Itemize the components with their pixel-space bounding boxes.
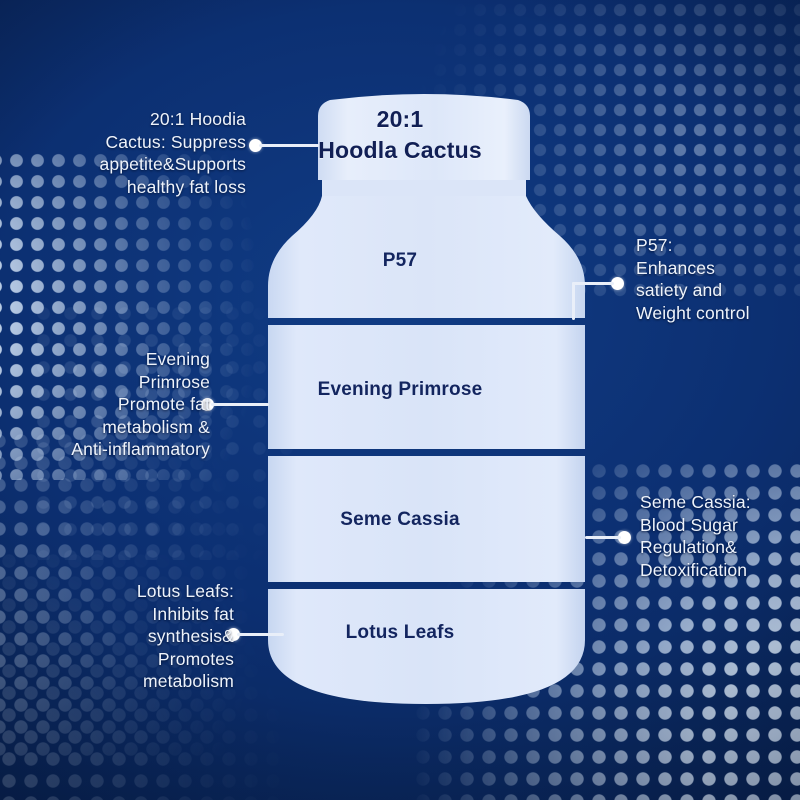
bottle-cap-shape <box>318 94 530 180</box>
callout-lotus-leafs: Lotus Leafs: Inhibits fat synthesis& Pro… <box>39 580 234 693</box>
bottle-band-seme-cassia <box>268 456 585 582</box>
bottle-neck-shape <box>322 180 526 196</box>
connector-elbow-p57 <box>572 282 575 320</box>
callout-hoodia-cactus: 20:1 Hoodia Cactus: Suppress appetite&Su… <box>36 108 246 198</box>
callout-evening-primrose: Evening Primrose Promote fat metabolism … <box>10 348 210 461</box>
connector-line-lotus-leafs <box>237 633 284 636</box>
connector-line-p57 <box>572 282 614 285</box>
infographic-canvas: 20:1 Hoodla Cactus P57 Evening Primrose … <box>0 0 800 800</box>
connector-line-hoodia-cactus <box>259 144 319 147</box>
connector-line-evening-primrose <box>211 403 269 406</box>
connector-line-seme-cassia <box>585 536 621 539</box>
callout-seme-cassia: Seme Cassia: Blood Sugar Regulation& Det… <box>640 491 800 581</box>
bottle-band-evening-primrose <box>268 325 585 449</box>
bottle-shoulder-band-p57 <box>268 196 585 318</box>
callout-p57: P57: Enhances satiety and Weight control <box>636 234 800 324</box>
bottle-band-lotus-leafs <box>268 589 585 704</box>
